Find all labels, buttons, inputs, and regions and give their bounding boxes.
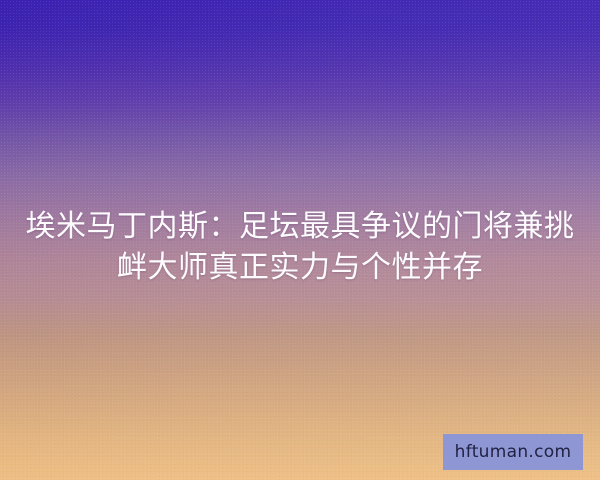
headline-text: 埃米马丁内斯：足坛最具争议的门将兼挑 衅大师真正实力与个性并存: [0, 206, 600, 288]
article-cover-banner: 埃米马丁内斯：足坛最具争议的门将兼挑 衅大师真正实力与个性并存 hftuman.…: [0, 0, 600, 480]
headline-line-2: 衅大师真正实力与个性并存: [18, 247, 582, 288]
watermark-badge: hftuman.com: [443, 434, 583, 470]
watermark-site-label: hftuman.com: [455, 442, 572, 462]
headline-line-1: 埃米马丁内斯：足坛最具争议的门将兼挑: [18, 206, 582, 247]
